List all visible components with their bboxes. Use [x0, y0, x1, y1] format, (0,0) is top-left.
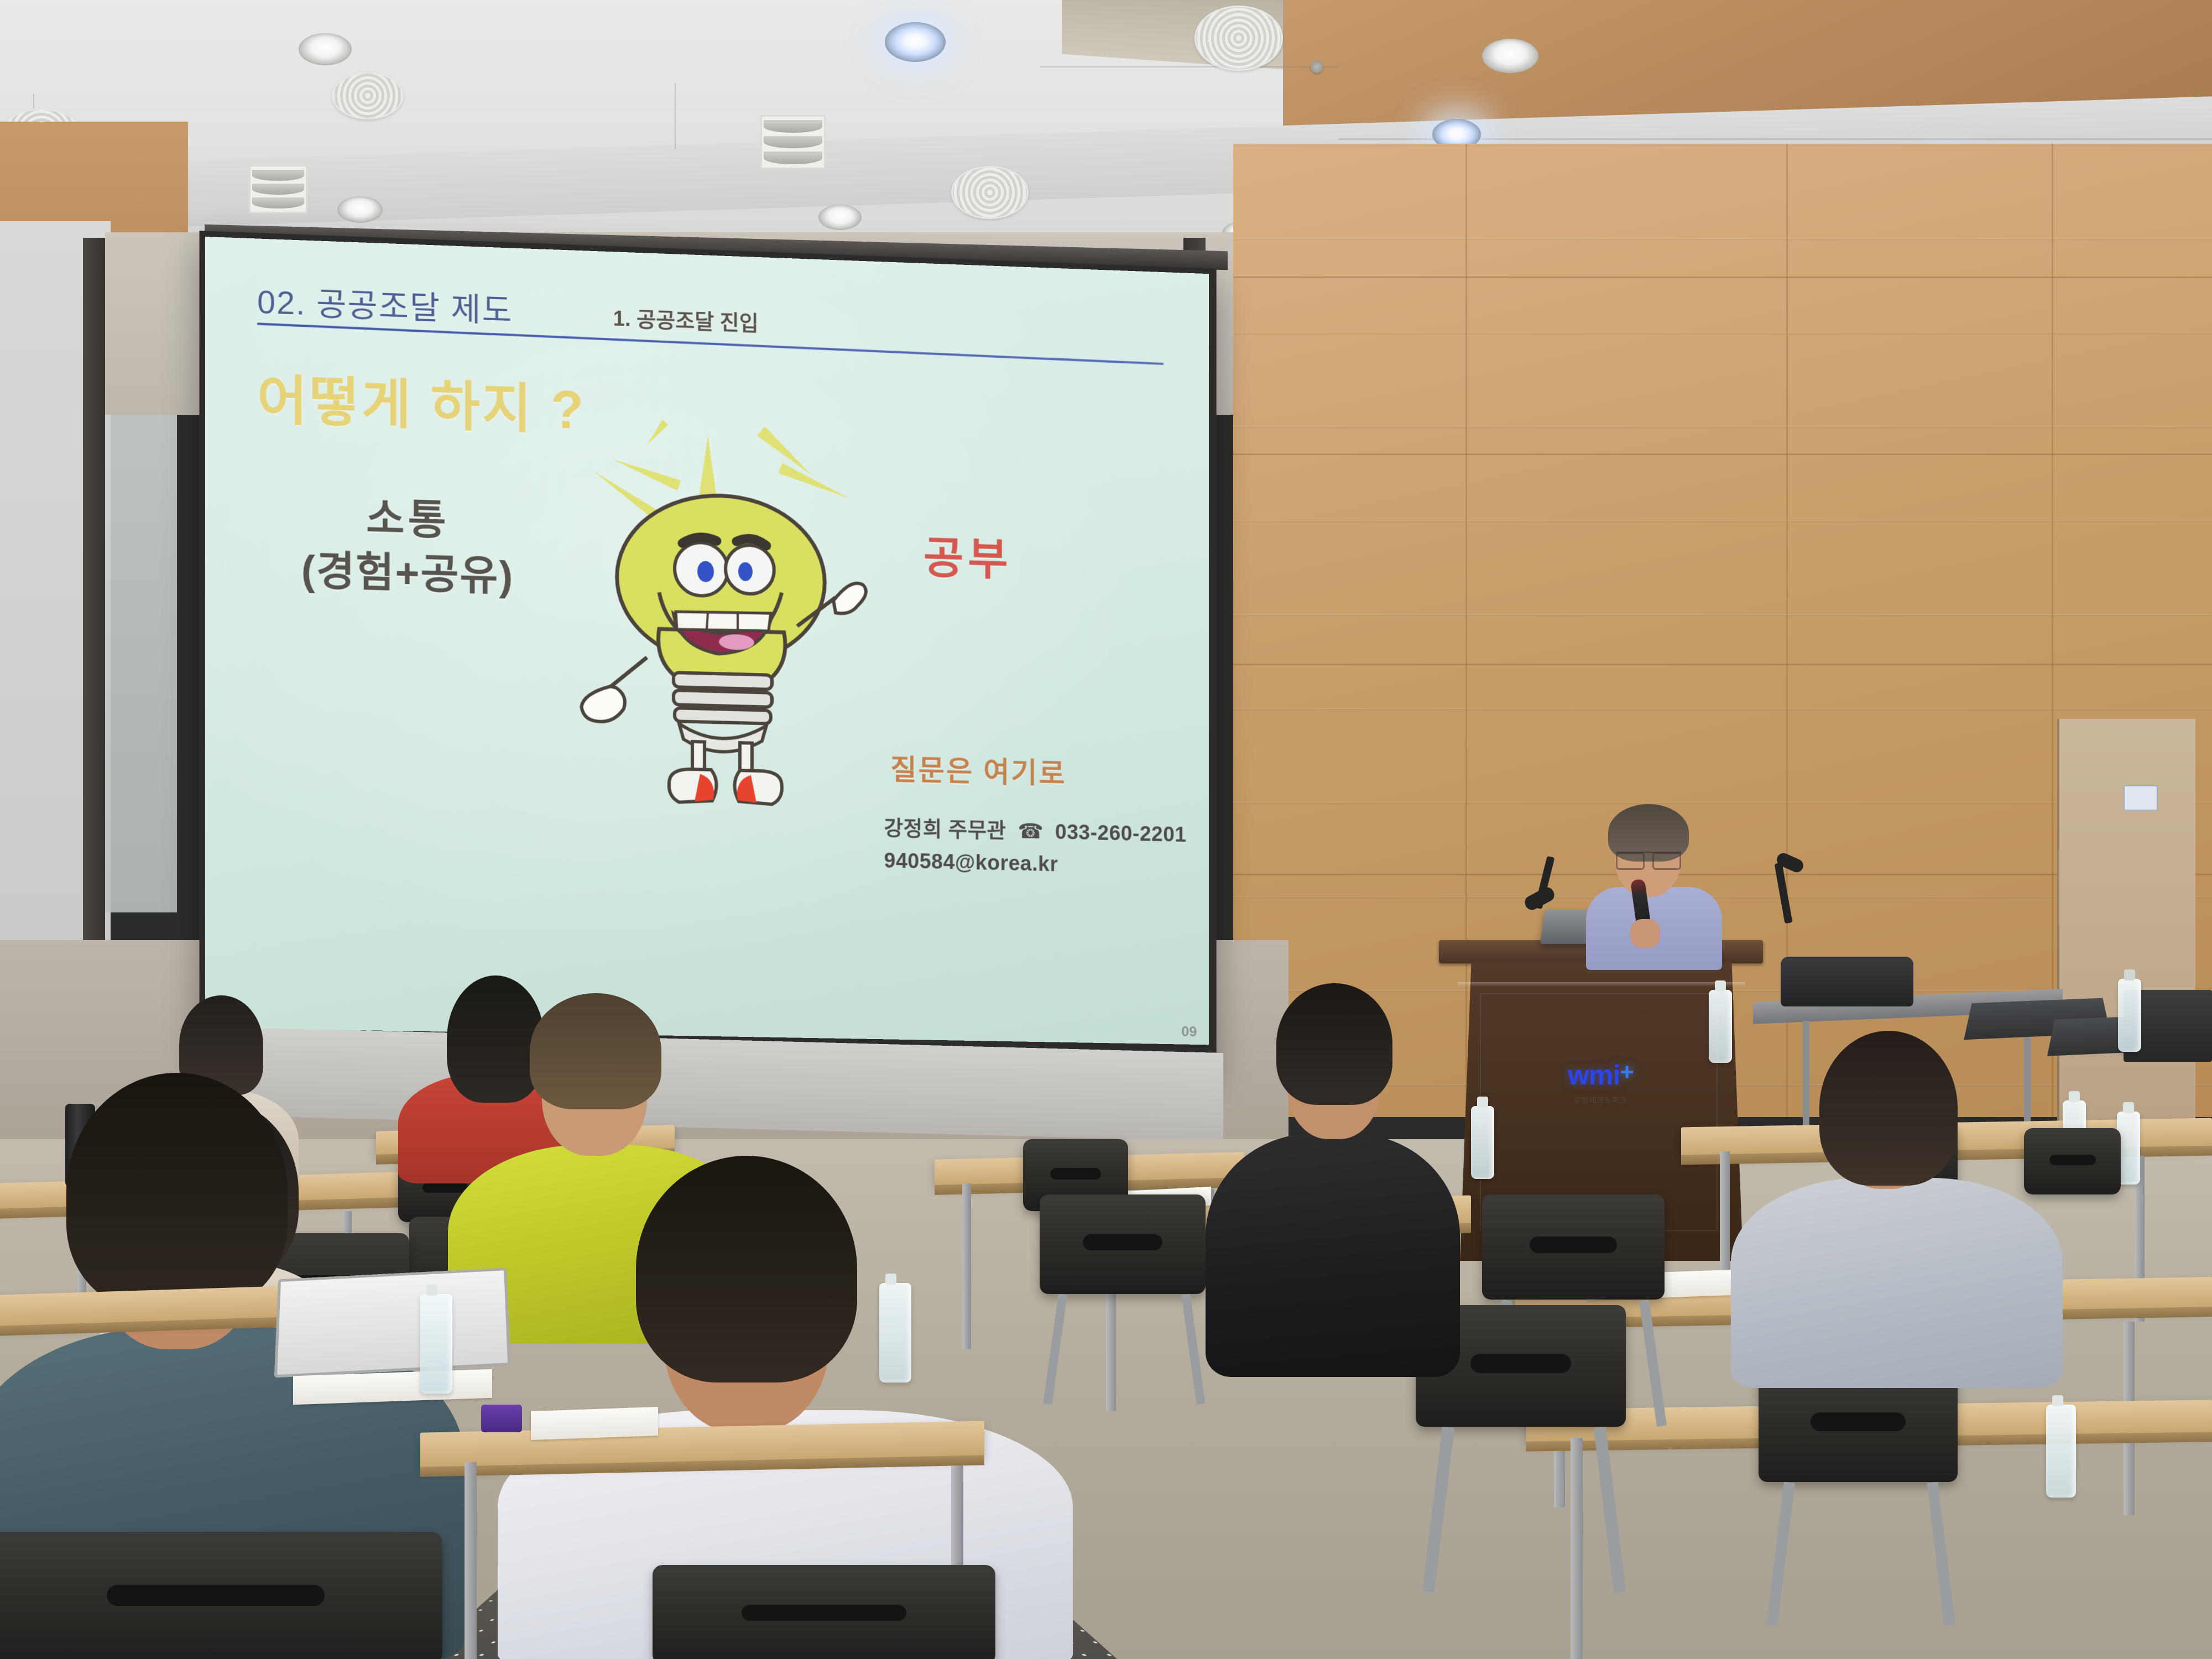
downlight-icon: [1482, 39, 1538, 73]
ceiling-seam: [675, 83, 676, 149]
person-torso: [1731, 1178, 2063, 1388]
water-bottle: [1709, 990, 1732, 1063]
glasses-icon: [1616, 852, 1681, 866]
air-diffuser-icon: [951, 166, 1029, 219]
person-hair: [1276, 983, 1392, 1105]
person-hair: [636, 1156, 857, 1383]
water-bottle: [2046, 1405, 2076, 1498]
wall-divider-left: [83, 238, 105, 946]
purple-case: [481, 1405, 522, 1432]
speaker-hand: [1630, 919, 1660, 948]
water-bottle: [420, 1294, 452, 1394]
door-sign: [2124, 785, 2158, 811]
podium-logo-subtext: 강원테크노파크: [1454, 1094, 1747, 1105]
slide-left-line1: 소통: [301, 492, 514, 547]
air-diffuser-icon: [1194, 6, 1283, 71]
contact-name: 강정희 주무관: [884, 817, 1006, 843]
ceiling-seam: [1040, 66, 1338, 67]
downlight-icon: [885, 22, 946, 62]
person-hair: [530, 993, 661, 1109]
lightbulb-mascot-icon: [576, 417, 874, 846]
water-bottle: [2118, 979, 2141, 1052]
phone-icon: ☎: [1018, 820, 1044, 844]
slide-page-number: 09: [1181, 1023, 1197, 1040]
slide-contact-block: 강정희 주무관 ☎ 033-260-2201 940584@korea.kr: [884, 812, 1186, 884]
water-bottle: [1471, 1106, 1494, 1179]
speaker-presenter: [1582, 801, 1725, 967]
air-diffuser-icon: [332, 72, 404, 119]
slide-left-line2: (경험+공유): [301, 546, 514, 601]
slide-right-word: 공부: [924, 522, 1013, 588]
podium-logo-text: wmi: [1568, 1060, 1620, 1091]
podium-logo-plus: +: [1620, 1058, 1634, 1086]
podium-logo: wmi+ 강원테크노파크: [1454, 1059, 1747, 1105]
contact-phone: 033-260-2201: [1055, 821, 1186, 847]
person-hair: [66, 1073, 288, 1311]
audience-person: [1206, 979, 1460, 1377]
contact-email: 940584@korea.kr: [884, 845, 1186, 884]
chair[interactable]: [653, 1565, 995, 1659]
desk-leg: [1571, 1438, 1583, 1659]
laptop[interactable]: [274, 1267, 510, 1378]
projection-screen: 02. 공공조달 제도 1. 공공조달 진입 어떻게 하지 ? 소통 (경험+공…: [205, 237, 1209, 1045]
slide-question-label: 질문은 여기로: [890, 747, 1066, 792]
handout-paper: [531, 1407, 658, 1440]
person-torso: [1206, 1134, 1460, 1377]
downlight-icon: [299, 33, 352, 65]
slide-content: 02. 공공조달 제도 1. 공공조달 진입 어떻게 하지 ? 소통 (경험+공…: [205, 237, 1209, 1045]
downlight-icon: [337, 196, 383, 223]
person-hair: [1819, 1031, 1958, 1186]
slide-subsection-label: 1. 공공조달 진입: [613, 301, 759, 337]
water-bottle: [879, 1283, 911, 1383]
ceiling-grille-icon: [760, 115, 826, 169]
chair[interactable]: [1482, 1194, 1665, 1300]
lecture-hall-scene: 02. 공공조달 제도 1. 공공조달 진입 어떻게 하지 ? 소통 (경험+공…: [0, 0, 2212, 1659]
downlight-icon: [818, 205, 862, 230]
chair[interactable]: [0, 1532, 442, 1659]
ceiling-grille-icon: [249, 165, 307, 213]
laptop-bag: [1781, 957, 1913, 1006]
slide-left-text: 소통 (경험+공유): [301, 492, 514, 601]
slide-section-label: 02. 공공조달 제도: [257, 275, 513, 331]
audience-person: [1731, 1029, 2063, 1383]
door[interactable]: [2057, 719, 2195, 1156]
sprinkler-head-icon: [1311, 61, 1323, 73]
desk-leg: [465, 1462, 477, 1659]
